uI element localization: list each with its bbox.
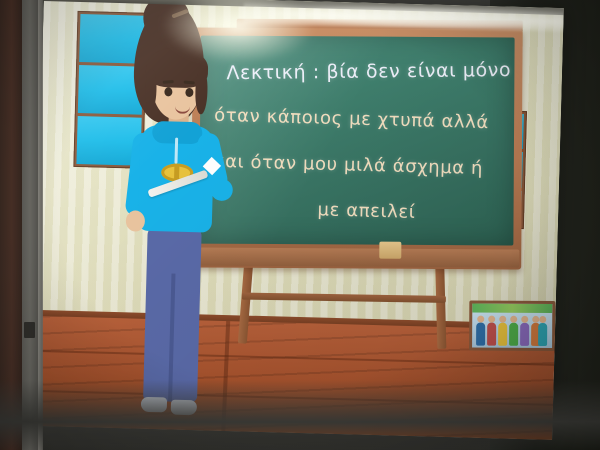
teacher-character [110,0,239,427]
poster-figure [487,323,496,346]
chalk-line-1: Λεκτική : βία δεν είναι μόνο [226,59,511,84]
screenshot-root: Λεκτική : βία δεν είναι μόνο όταν κάποιο… [0,0,600,450]
blackboard: Λεκτική : βία δεν είναι μόνο όταν κάποιο… [191,28,522,270]
classroom-poster [469,301,555,352]
poster-figure [520,323,529,346]
hair-side-right [195,68,208,114]
poster-figure [498,323,507,346]
hand-right [210,179,233,202]
chalk-tray [193,248,519,268]
screen-frame-clip [24,322,35,338]
poster-figure [538,323,547,346]
projected-slide: Λεκτική : βία δεν είναι μόνο όταν κάποιο… [32,0,563,440]
poster-banner [472,304,552,313]
room-floor-shadow [0,380,600,450]
poster-figure [509,323,518,346]
chalk-eraser [379,242,401,259]
blackboard-surface: Λεκτική : βία δεν είναι μόνο όταν κάποιο… [199,36,514,246]
poster-artwork [472,304,552,348]
projection-screen: Λεκτική : βία δεν είναι μόνο όταν κάποιο… [32,0,563,440]
chalk-line-4: με απειλεί [317,199,415,223]
poster-figure [476,323,485,346]
